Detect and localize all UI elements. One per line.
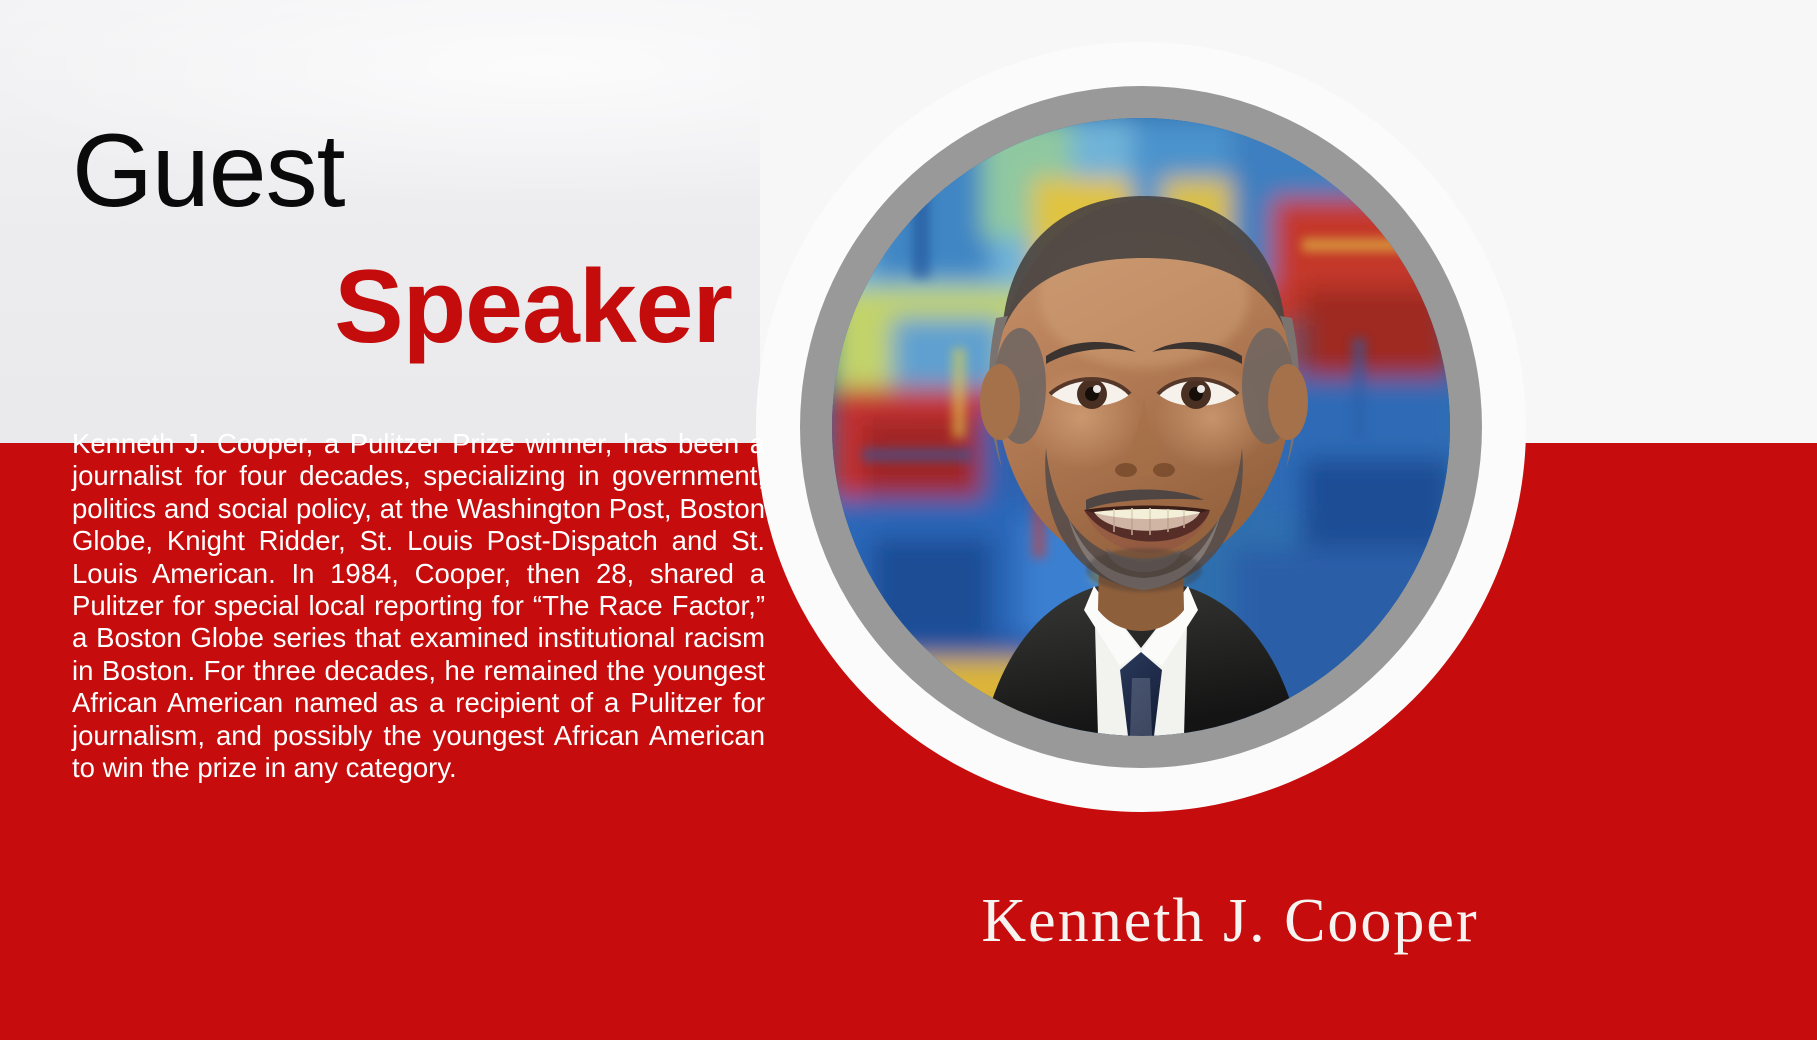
speaker-bio-text: Kenneth J. Cooper, a Pulitzer Prize winn… <box>72 428 765 784</box>
portrait-frame <box>756 42 1526 812</box>
speaker-name-caption: Kenneth J. Cooper <box>860 890 1600 952</box>
headline-line-guest: Guest <box>72 118 732 224</box>
headline-line-speaker: Speaker <box>72 254 732 360</box>
guest-speaker-slide: Guest Speaker <box>0 0 1817 1040</box>
portrait-photo <box>832 118 1450 736</box>
page-title: Guest Speaker <box>72 118 732 360</box>
